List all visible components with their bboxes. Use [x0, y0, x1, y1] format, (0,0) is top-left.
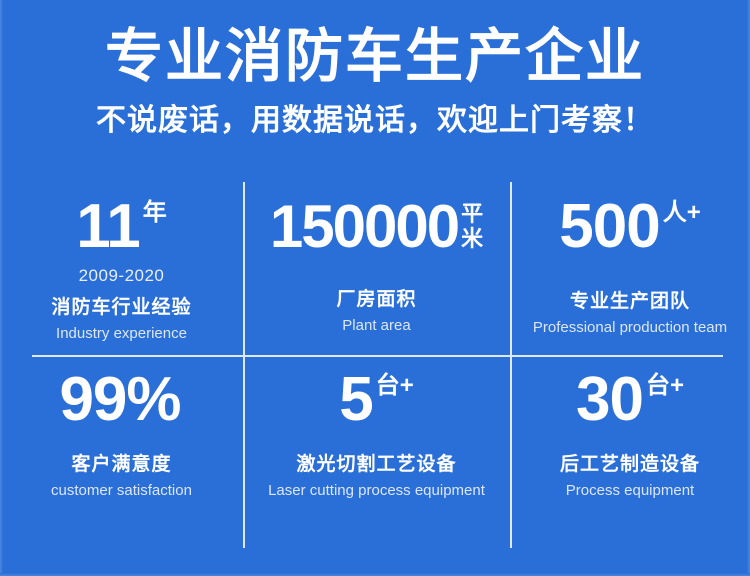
stat-value: 99% [59, 369, 180, 431]
stats-grid: 11 年 2009-2020 消防车行业经验 Industry experien… [0, 178, 750, 554]
stat-unit: 台+ [646, 369, 684, 399]
stat-value-line: 500 人+ [559, 196, 700, 258]
stat-cell-customer-satisfaction: 99% 客户满意度 customer satisfaction [0, 355, 243, 554]
stat-value: 30 [576, 369, 643, 431]
stat-value-line: 5 台+ [339, 369, 414, 431]
stat-cell-plant-area: 150000 平 米 厂房面积 Plant area [243, 178, 510, 355]
stat-label-en: Industry experience [56, 324, 187, 343]
stat-value-line: 99% [59, 369, 183, 431]
stat-value-line: 11 年 [76, 196, 167, 258]
stat-unit: 台+ [376, 369, 414, 399]
stat-label-en: Laser cutting process equipment [268, 481, 485, 500]
stat-label-cn: 专业生产团队 [570, 290, 690, 313]
stat-unit: 人+ [663, 196, 701, 226]
stat-label-cn: 厂房面积 [336, 288, 416, 311]
stat-label-cn: 消防车行业经验 [51, 296, 191, 319]
stat-unit: 年 [143, 196, 167, 226]
stat-value: 150000 [270, 196, 458, 258]
stat-label-en: Professional production team [533, 318, 727, 337]
stat-label-en: Process equipment [566, 481, 694, 500]
stat-label-cn: 后工艺制造设备 [560, 453, 700, 476]
stat-unit-top: 平 [461, 201, 483, 226]
stat-value-line: 150000 平 米 [270, 196, 483, 258]
stat-label-en: customer satisfaction [51, 481, 192, 500]
stat-value: 500 [559, 196, 659, 258]
stat-label-en: Plant area [342, 316, 410, 335]
stat-value-line: 30 台+ [576, 369, 684, 431]
stat-subvalue: 2009-2020 [79, 266, 165, 286]
stat-unit: 平 米 [461, 196, 483, 251]
stat-cell-production-team: 500 人+ 专业生产团队 Professional production te… [510, 178, 750, 355]
stat-cell-process-equipment: 30 台+ 后工艺制造设备 Process equipment [510, 355, 750, 554]
stat-unit-bottom: 米 [461, 226, 483, 251]
page-subtitle: 不说废话，用数据说话，欢迎上门考察！ [0, 104, 750, 138]
stat-cell-laser-cutting-equipment: 5 台+ 激光切割工艺设备 Laser cutting process equi… [243, 355, 510, 554]
stat-label-cn: 客户满意度 [71, 453, 171, 476]
banner-header: 专业消防车生产企业 不说废话，用数据说话，欢迎上门考察！ [0, 0, 750, 138]
stat-cell-industry-experience: 11 年 2009-2020 消防车行业经验 Industry experien… [0, 178, 243, 355]
stat-label-cn: 激光切割工艺设备 [296, 453, 456, 476]
stat-value: 11 [76, 196, 140, 258]
stat-value: 5 [339, 369, 372, 431]
page-title: 专业消防车生产企业 [0, 26, 750, 88]
